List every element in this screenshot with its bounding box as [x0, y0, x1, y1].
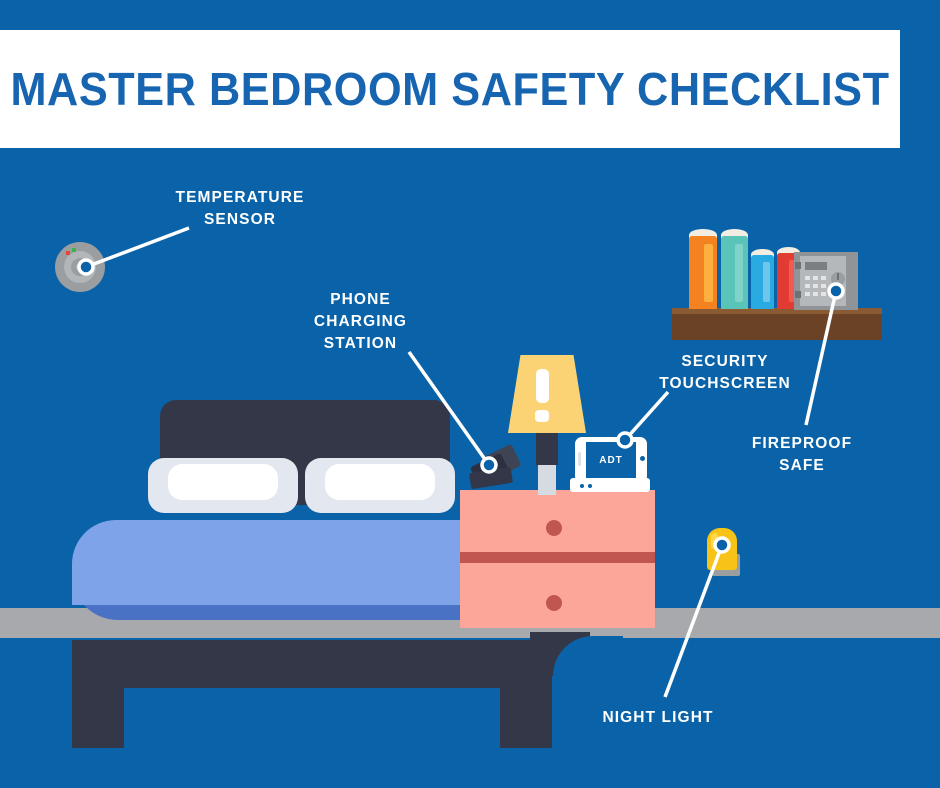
adt-brand-label: ADT: [586, 442, 636, 478]
pillow-left: [148, 458, 298, 513]
drawer-knob-bottom: [546, 595, 562, 611]
bed-leg-left: [72, 640, 124, 748]
callout-label-night-light: NIGHT LIGHT: [558, 707, 758, 729]
callout-label-fireproof-safe: FIREPROOF SAFE: [712, 433, 892, 477]
pillow-right: [305, 458, 455, 513]
drawer-knob-top: [546, 520, 562, 536]
infographic-canvas: MASTER BEDROOM SAFETY CHECKLIST: [0, 0, 940, 788]
callout-label-phone-charging-station: PHONE CHARGING STATION: [268, 289, 453, 355]
wall-shelf: [672, 314, 882, 340]
callout-label-temperature-sensor: TEMPERATURE SENSOR: [140, 187, 340, 231]
callout-label-security-touchscreen: SECURITY TOUCHSCREEN: [630, 351, 820, 395]
page-title: MASTER BEDROOM SAFETY CHECKLIST: [27, 30, 873, 148]
